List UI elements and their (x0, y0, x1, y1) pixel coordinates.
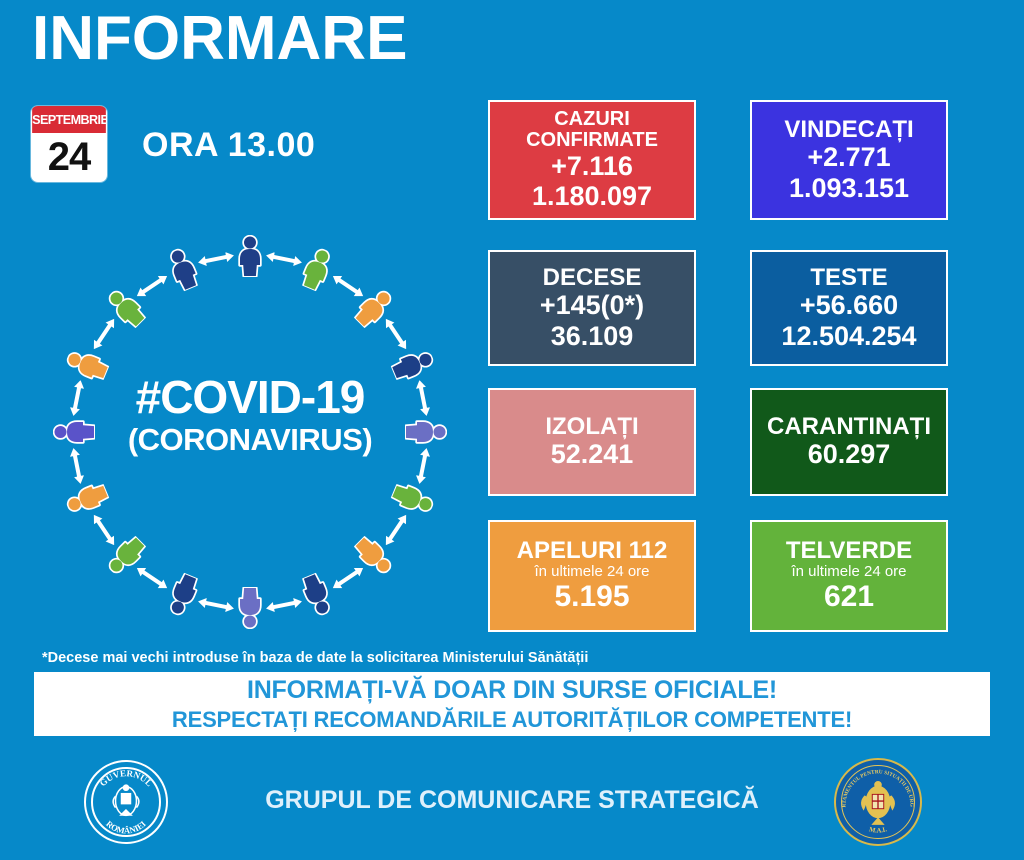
stat-total: 12.504.254 (781, 321, 916, 351)
stat-sublabel: în ultimele 24 ore (791, 564, 906, 581)
stat-delta: +145(0*) (540, 290, 644, 320)
report-time: ORA 13.00 (142, 126, 315, 165)
social-distancing-diagram: #COVID-19 (CORONAVIRUS) (30, 222, 470, 642)
stat-label: CAZURI CONFIRMATE (490, 109, 694, 151)
infographic-root: INFORMARE SEPTEMBRIE 24 ORA 13.00 (0, 0, 1024, 860)
footer-title: GRUPUL DE COMUNICARE STRATEGICĂ (0, 786, 1024, 815)
stat-label: APELURI 112 (517, 538, 668, 563)
stat-total: 36.109 (551, 321, 634, 351)
stat-delta: +56.660 (800, 290, 898, 320)
page-title: INFORMARE (32, 8, 407, 70)
stat-card-izolati: IZOLAȚI52.241 (488, 388, 696, 496)
stat-label: TESTE (810, 265, 887, 290)
stat-card-apeluri-112: APELURI 112în ultimele 24 ore5.195 (488, 520, 696, 632)
stat-label: CARANTINAȚI (767, 414, 931, 439)
stat-label: TELVERDE (786, 538, 912, 563)
banner-line-1: INFORMAȚI-VĂ DOAR DIN SURSE OFICIALE! (247, 676, 777, 705)
stat-total: 1.093.151 (789, 173, 909, 203)
calendar-month: SEPTEMBRIE (32, 106, 106, 133)
stat-delta: +2.771 (807, 142, 890, 172)
calendar-day: 24 (31, 133, 107, 181)
stat-total: 60.297 (808, 439, 891, 469)
stat-card-carantinati: CARANTINAȚI60.297 (750, 388, 948, 496)
stat-card-teste: TESTE+56.66012.504.254 (750, 250, 948, 366)
stat-total: 5.195 (554, 580, 629, 614)
stat-card-cazuri-confirmate: CAZURI CONFIRMATE+7.1161.180.097 (488, 100, 696, 220)
stat-delta: +7.116 (551, 151, 633, 181)
stat-label: VINDECAȚI (784, 117, 913, 142)
stat-total: 52.241 (551, 439, 634, 469)
footnote: *Decese mai vechi introduse în baza de d… (42, 650, 588, 666)
official-sources-banner: INFORMAȚI-VĂ DOAR DIN SURSE OFICIALE! RE… (34, 672, 990, 736)
stat-card-vindecati: VINDECAȚI+2.7711.093.151 (750, 100, 948, 220)
calendar-icon: SEPTEMBRIE 24 (31, 106, 107, 182)
stat-label: DECESE (543, 265, 642, 290)
stat-card-telverde: TELVERDEîn ultimele 24 ore621 (750, 520, 948, 632)
banner-line-2: RESPECTAȚI RECOMANDĂRILE AUTORITĂȚILOR C… (172, 707, 852, 733)
stat-sublabel: în ultimele 24 ore (534, 564, 649, 581)
stat-card-decese: DECESE+145(0*)36.109 (488, 250, 696, 366)
stat-total: 1.180.097 (532, 181, 652, 211)
stat-label: IZOLAȚI (545, 414, 638, 439)
stat-total: 621 (824, 580, 874, 614)
